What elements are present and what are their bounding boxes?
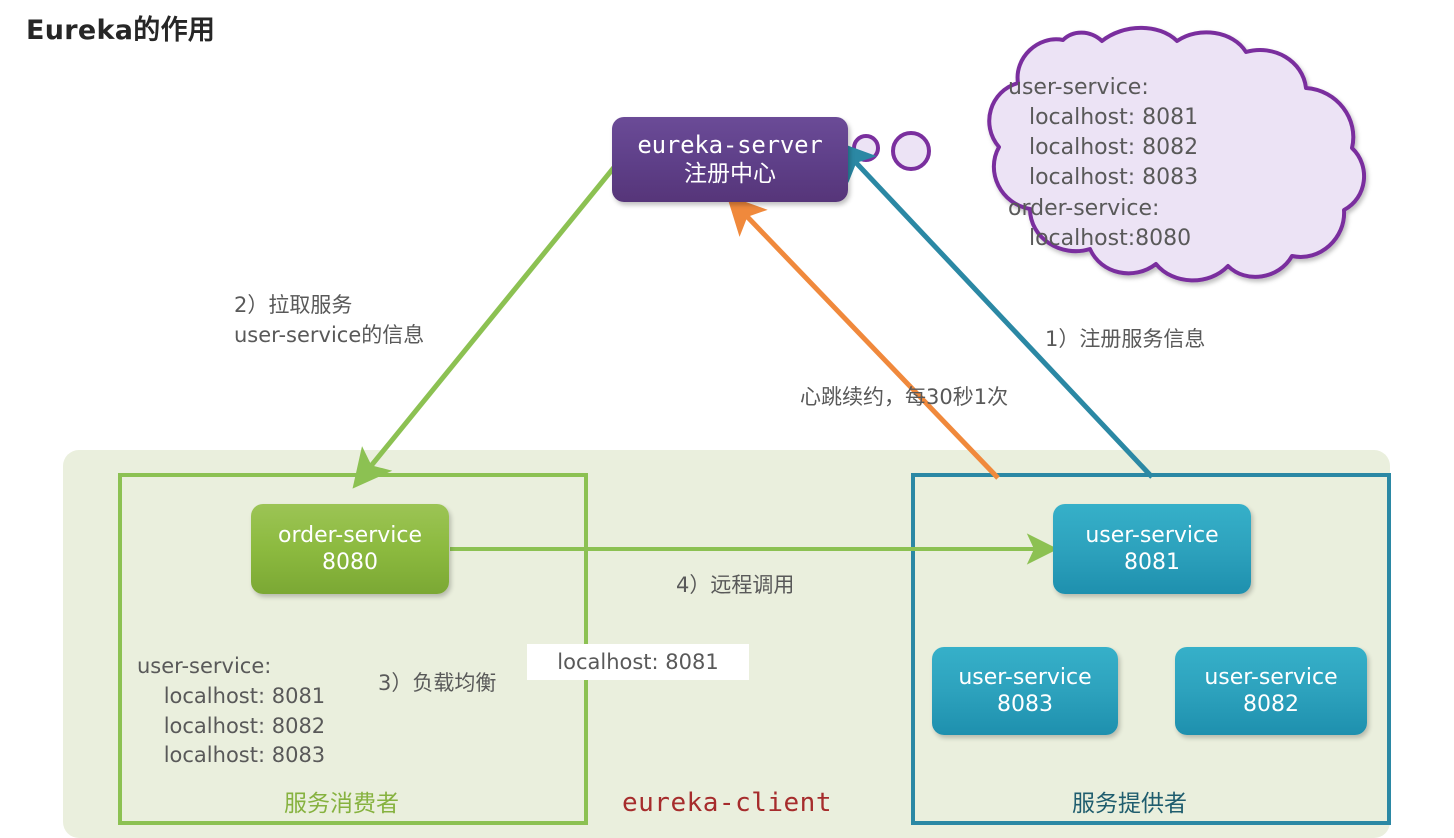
eureka-client-label: eureka-client xyxy=(622,788,832,818)
eureka-server-role: 注册中心 xyxy=(684,160,776,188)
eureka-server-node[interactable]: eureka-server 注册中心 xyxy=(612,117,848,202)
service-consumer-caption: 服务消费者 xyxy=(284,784,399,818)
order-service-node[interactable]: order-service 8080 xyxy=(251,504,449,594)
order-service-name: order-service xyxy=(278,522,422,549)
selected-instance-tag: localhost: 8081 xyxy=(527,644,749,680)
user-service-8081-port: 8081 xyxy=(1124,549,1180,576)
pull-services-label: 2）拉取服务 user-service的信息 xyxy=(234,290,424,351)
registry-cloud-text: user-service: localhost: 8081 localhost:… xyxy=(1008,73,1198,254)
user-service-8081-name: user-service xyxy=(1085,522,1218,549)
consumer-cached-instance-list: user-service: localhost: 8081 localhost:… xyxy=(137,652,325,771)
load-balance-label: 3）负载均衡 xyxy=(378,668,496,698)
heartbeat-label: 心跳续约，每30秒1次 xyxy=(800,382,1008,412)
service-provider-caption: 服务提供者 xyxy=(1072,784,1187,818)
user-service-8082-name: user-service xyxy=(1204,664,1337,691)
user-service-8081-node[interactable]: user-service 8081 xyxy=(1053,504,1251,594)
order-service-port: 8080 xyxy=(322,549,378,576)
thought-bubble-2 xyxy=(893,133,929,169)
heartbeat-arrow xyxy=(737,206,998,478)
remote-call-label: 4）远程调用 xyxy=(676,570,794,600)
thought-bubble-1 xyxy=(854,136,878,160)
user-service-8082-port: 8082 xyxy=(1243,691,1299,718)
user-service-8083-name: user-service xyxy=(958,664,1091,691)
user-service-8083-node[interactable]: user-service 8083 xyxy=(932,647,1118,735)
register-service-label: 1）注册服务信息 xyxy=(1045,324,1205,354)
user-service-8083-port: 8083 xyxy=(997,691,1053,718)
eureka-server-name: eureka-server xyxy=(637,131,822,160)
user-service-8082-node[interactable]: user-service 8082 xyxy=(1175,647,1367,735)
